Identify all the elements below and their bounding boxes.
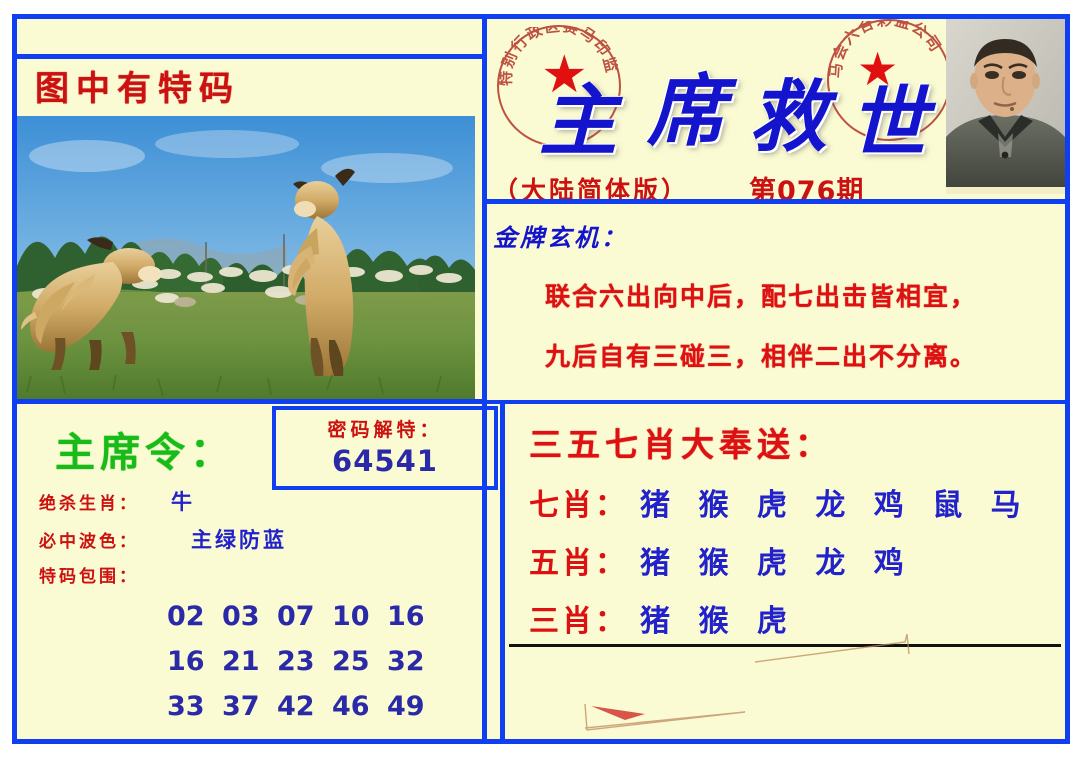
special-range-row: 特码包围： (39, 562, 482, 587)
main-title: ★ ★ 主 席 救 世 (517, 37, 977, 152)
number-cell: 10 (332, 601, 387, 632)
number-cell: 03 (222, 601, 277, 632)
wave-color-label: 必中波色： (39, 527, 151, 552)
number-cell: 02 (167, 601, 222, 632)
number-cell: 37 (222, 691, 277, 722)
goat-photo-svg (17, 116, 475, 399)
kill-zodiac-value: 牛 (171, 486, 195, 516)
left-section-title-band: 图中有特码 (17, 59, 482, 111)
zodiac-row-seven: 七肖： 猪 猴 虎 龙 鸡 鼠 马 (529, 480, 1065, 524)
number-row: 33 37 42 46 49 (167, 691, 482, 722)
number-cell: 23 (277, 646, 332, 677)
special-range-label: 特码包围： (39, 562, 151, 587)
watermark-lines (505, 634, 1065, 739)
poem-panel: 金牌玄机： 联合六出向中后，配七出击皆相宜， 九后自有三碰三，相伴二出不分离。 (487, 204, 1065, 400)
number-row: 16 21 23 25 32 (167, 646, 482, 677)
left-top-blank-band (17, 19, 482, 59)
number-cell: 32 (387, 646, 442, 677)
number-cell: 16 (167, 646, 222, 677)
number-cell: 33 (167, 691, 222, 722)
poem-line: 联合六出向中后，配七出击皆相宜， (545, 277, 1065, 313)
mao-portrait (946, 19, 1065, 194)
wave-color-row: 必中波色： 主绿防蓝 (39, 524, 482, 554)
main-title-char: 救 (749, 55, 827, 167)
main-title-char: 席 (647, 49, 725, 161)
zodiac-row-value: 猪 猴 虎 龙 鸡 鼠 马 (640, 480, 1030, 524)
number-cell: 07 (277, 601, 332, 632)
number-cell: 46 (332, 691, 387, 722)
secret-code-box: 密码解特： 64541 (272, 406, 498, 490)
number-grid: 02 03 07 10 16 16 21 23 25 32 33 37 42 4… (17, 601, 482, 722)
number-cell: 49 (387, 691, 442, 722)
zodiac-row-label: 五肖： (529, 538, 628, 582)
section-title: 图中有特码 (35, 61, 240, 110)
poem-line: 九后自有三碰三，相伴二出不分离。 (545, 337, 1065, 373)
poster-root: 图中有特码 (0, 0, 1080, 764)
kill-zodiac-label: 绝杀生肖： (39, 489, 151, 514)
number-row: 02 03 07 10 16 (167, 601, 482, 632)
poem-heading: 金牌玄机： (493, 218, 1065, 253)
wave-color-value: 主绿防蓝 (191, 524, 287, 554)
mao-portrait-svg (946, 19, 1065, 194)
main-title-char: 主 (539, 59, 617, 171)
zodiac-panel: 三五七肖大奉送： 七肖： 猪 猴 虎 龙 鸡 鼠 马 五肖： 猪 猴 虎 龙 鸡… (505, 404, 1065, 739)
number-cell: 21 (222, 646, 277, 677)
secret-code-value: 64541 (276, 444, 494, 478)
number-cell: 25 (332, 646, 387, 677)
kill-zodiac-row: 绝杀生肖： 牛 (39, 486, 482, 516)
goat-photo (17, 116, 475, 399)
number-cell: 42 (277, 691, 332, 722)
main-title-char: 世 (849, 61, 927, 173)
zodiac-row-value: 猪 猴 虎 龙 鸡 (640, 538, 913, 582)
zodiac-row-five: 五肖： 猪 猴 虎 龙 鸡 (529, 538, 1065, 582)
number-cell: 16 (387, 601, 442, 632)
zodiac-row-label: 七肖： (529, 480, 628, 524)
zodiac-heading: 三五七肖大奉送： (529, 418, 1065, 466)
issue-number: 第076期 (749, 169, 864, 199)
secret-code-label: 密码解特： (276, 415, 494, 442)
edition-label: （大陆简体版） (493, 171, 689, 200)
